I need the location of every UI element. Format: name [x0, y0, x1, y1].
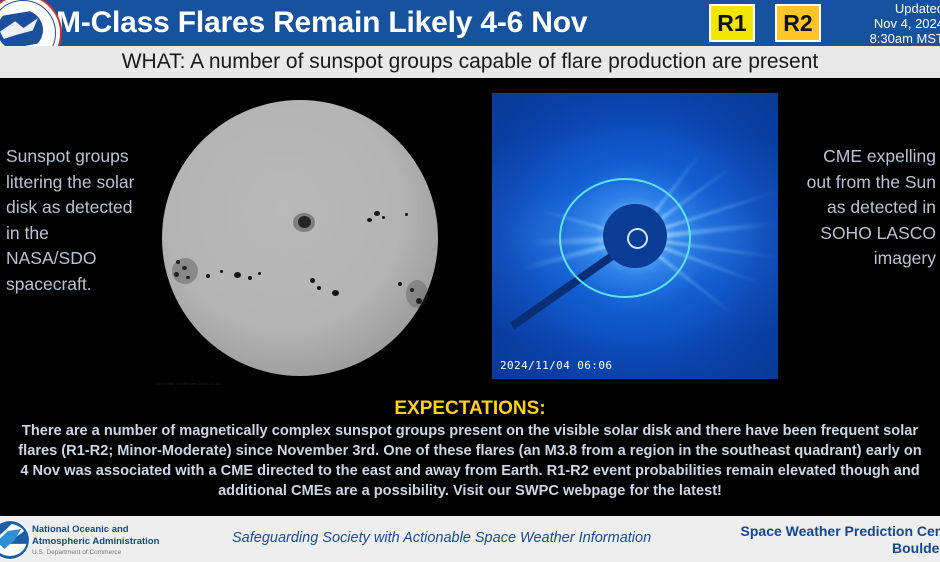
sunspot	[332, 290, 339, 296]
updated-time: 8:30am MST	[824, 31, 940, 46]
sunspot	[310, 278, 315, 283]
swpc-center-name: Space Weather Prediction Cent Boulder,	[698, 523, 940, 557]
footer-bar: National Oceanic and Atmospheric Adminis…	[0, 516, 940, 562]
updated-label: Updated	[824, 1, 940, 16]
status-badge-r1[interactable]: R1	[709, 4, 755, 42]
space-weather-infographic: M-Class Flares Remain Likely 4-6 Nov R1 …	[0, 0, 940, 562]
sunspot	[405, 213, 408, 216]
footer-tagline: Safeguarding Society with Actionable Spa…	[232, 530, 651, 546]
updated-timestamp: Updated Nov 4, 2024 8:30am MST	[824, 1, 940, 46]
swpc-line-2: Boulder,	[698, 540, 940, 557]
sunspot-penumbra	[172, 258, 198, 284]
noaa-seal-icon	[0, 520, 30, 560]
sunspot	[382, 216, 385, 219]
sunspot	[206, 274, 210, 278]
sunspot	[258, 272, 261, 275]
sunspot	[317, 286, 321, 290]
header-bar: M-Class Flares Remain Likely 4-6 Nov R1 …	[0, 0, 940, 46]
what-banner: WHAT: A number of sunspot groups capable…	[0, 46, 940, 78]
sunspot	[248, 276, 252, 280]
sunspot-penumbra	[406, 280, 428, 308]
sunspot	[220, 270, 223, 273]
sunspot-penumbra	[293, 213, 315, 232]
updated-date: Nov 4, 2024	[824, 16, 940, 31]
solar-photosphere	[162, 100, 438, 376]
expectations-body: There are a number of magnetically compl…	[18, 421, 922, 501]
lasco-coronagraph-image: 2024/11/04 06:06	[487, 88, 783, 384]
lasco-timestamp: 2024/11/04 06:06	[500, 359, 612, 372]
coronagraph-field: 2024/11/04 06:06	[492, 93, 778, 379]
status-badge-r2[interactable]: R2	[775, 4, 821, 42]
page-title: M-Class Flares Remain Likely 4-6 Nov	[56, 0, 587, 46]
sunspot	[234, 272, 241, 278]
agency-line-2: Atmospheric Administration	[32, 536, 159, 548]
sunspot	[367, 218, 372, 222]
nws-seal-icon	[0, 0, 62, 46]
agency-line-1: National Oceanic and	[32, 524, 159, 536]
caption-lasco: CME expelling out from the Sun as detect…	[796, 144, 936, 272]
department-name: U.S. Department of Commerce	[32, 549, 121, 556]
expectations-title: EXPECTATIONS:	[0, 398, 940, 420]
swpc-line-1: Space Weather Prediction Cent	[698, 523, 940, 540]
sdo-solar-disk-image: SDO/HMI Continuum 2024-11-04	[150, 92, 450, 392]
sunspot	[374, 211, 380, 216]
sdo-credit-text: SDO/HMI Continuum 2024-11-04	[156, 381, 220, 386]
sunspot	[398, 282, 402, 286]
agency-name: National Oceanic and Atmospheric Adminis…	[32, 524, 159, 547]
imagery-stage: Sunspot groups littering the solar disk …	[0, 78, 940, 394]
cme-annotation-ellipse	[559, 178, 691, 298]
caption-sdo: Sunspot groups littering the solar disk …	[6, 144, 138, 297]
